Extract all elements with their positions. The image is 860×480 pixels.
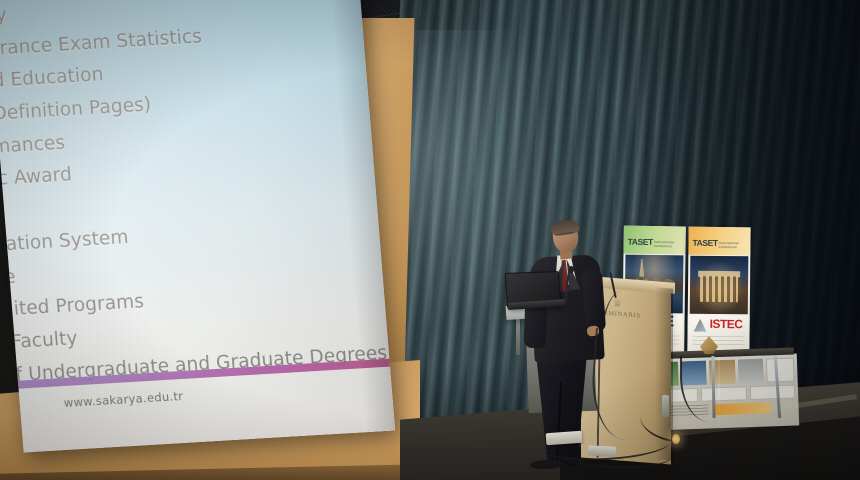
projected-slide: t Quality sity Entrance Exam Statistics …: [0, 0, 395, 452]
taset-logo: TASET: [628, 237, 653, 247]
banner-fine-print: [692, 336, 744, 348]
power-strip: [546, 431, 583, 445]
banner-photo-brandenburg: [690, 256, 749, 315]
banner-taset-istec: TASET International Conference ISTEC: [687, 227, 750, 354]
slide-bullet-list: t Quality sity Entrance Exam Statistics …: [0, 0, 395, 403]
projection-screen: t Quality sity Entrance Exam Statistics …: [0, 0, 395, 452]
water-bottle: [662, 395, 669, 417]
poster-cell: [749, 385, 795, 401]
banner-header: TASET International Conference: [688, 227, 750, 256]
floor-indicator-light-icon: [672, 434, 680, 444]
speaker-shoe: [530, 459, 562, 470]
poster-cell: [766, 358, 794, 383]
conference-photo: t Quality sity Entrance Exam Statistics …: [0, 0, 860, 480]
banner-header: TASET International Conference: [623, 226, 685, 255]
taset-logo-subtitle: International Conference: [718, 241, 750, 249]
power-strip-secondary: [588, 445, 616, 456]
banner-title-istec: ISTEC: [710, 317, 743, 331]
taset-logo-subtitle: International Conference: [654, 240, 686, 248]
microphone-head-icon: [569, 266, 574, 273]
istec-mark-icon: [694, 319, 707, 332]
speaker-arm-right: [582, 269, 606, 332]
taset-logo: TASET: [692, 238, 717, 248]
poster-cell: [738, 359, 764, 384]
banner-footer: ISTEC: [687, 315, 749, 354]
